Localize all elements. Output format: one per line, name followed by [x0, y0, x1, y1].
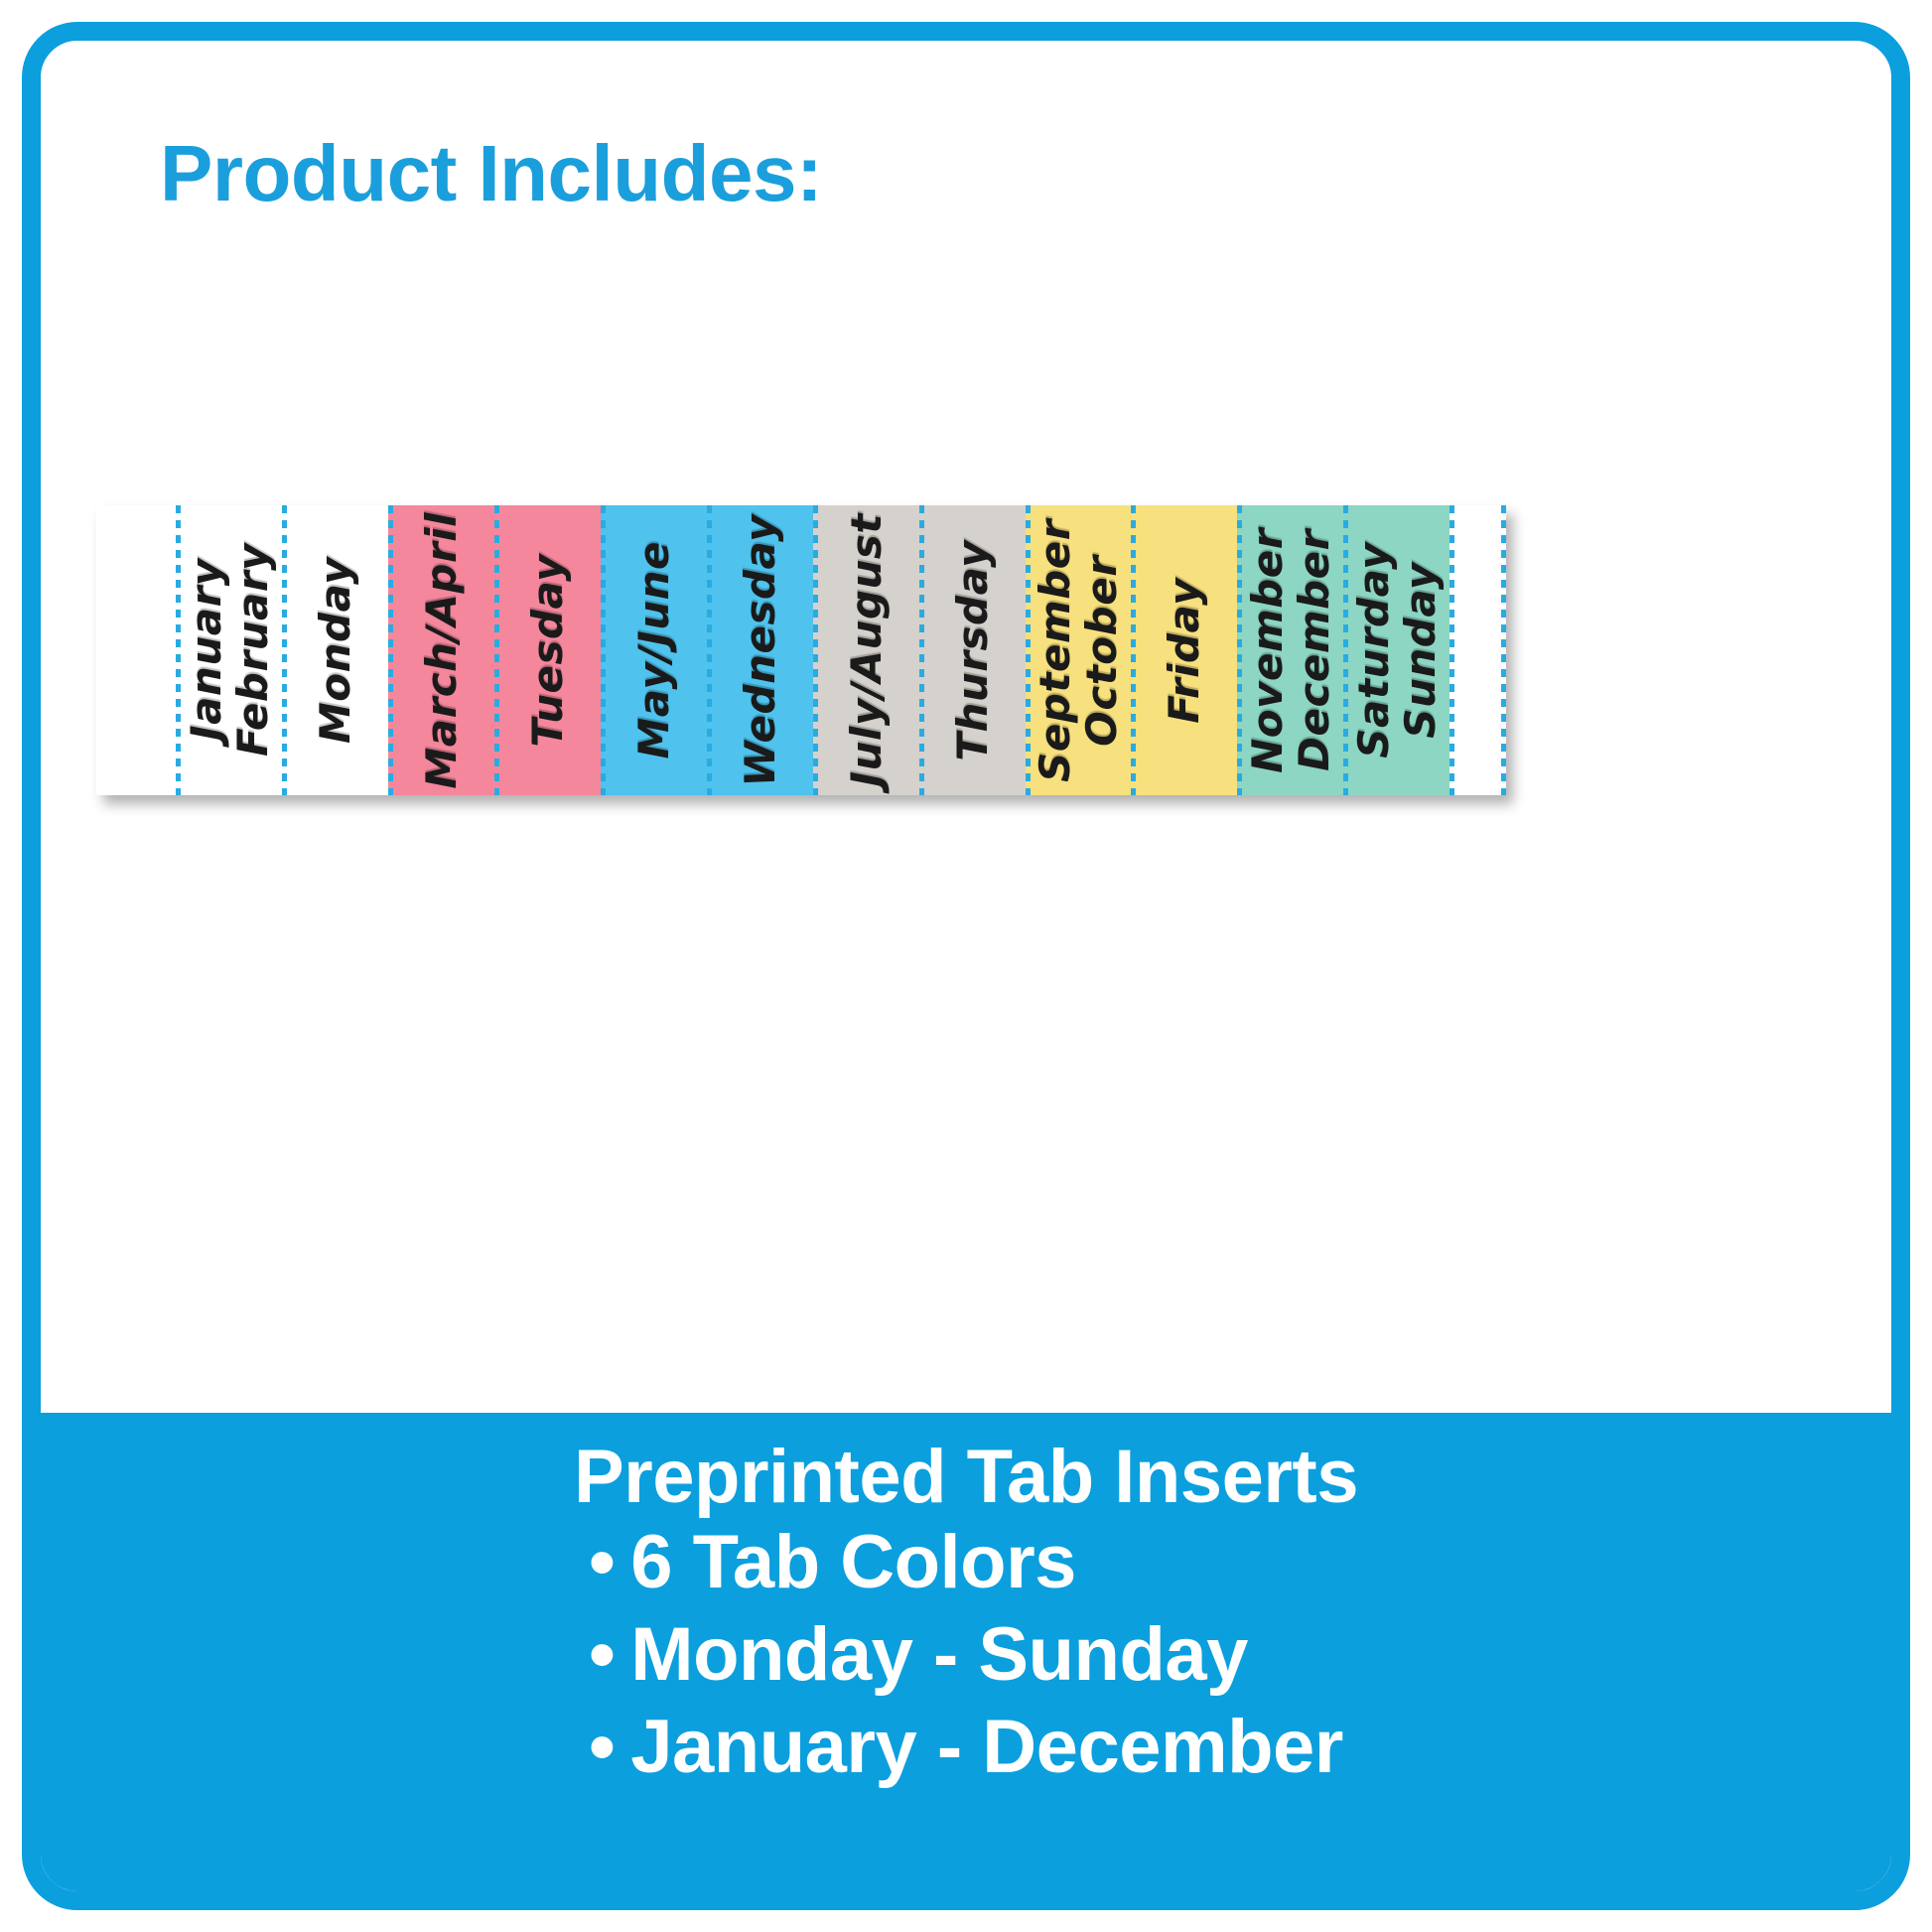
tab-segment-may-june[interactable]: May/June — [601, 505, 707, 795]
tab-segment-saturday-sunday[interactable]: SaturdaySunday — [1343, 505, 1449, 795]
tab-label-line: March/April — [418, 512, 465, 789]
tab-label-line: Sunday — [1397, 542, 1444, 759]
footer-bullet-text: 6 Tab Colors — [630, 1520, 1076, 1604]
tab-segment-margin-13[interactable] — [1449, 505, 1506, 795]
tab-segment-july-august[interactable]: July/August — [813, 505, 919, 795]
tab-label-line: October — [1078, 519, 1125, 782]
tab-label-line: Thursday — [949, 540, 996, 761]
tab-segment-label: March/April — [418, 512, 465, 789]
tab-segment-label: May/June — [630, 541, 677, 759]
tab-segment-monday[interactable]: Monday — [282, 505, 388, 795]
tab-segment-label: SaturdaySunday — [1350, 542, 1444, 759]
footer-bullet-text: Monday - Sunday — [630, 1612, 1248, 1697]
footer-bullet-text: January - December — [630, 1705, 1343, 1789]
tab-label-line: November — [1244, 528, 1291, 773]
tab-insert-strip: JanuaryFebruaryMondayMarch/AprilTuesdayM… — [96, 505, 1506, 795]
bullet-dot-icon: • — [589, 1520, 615, 1604]
tab-insert-strip-wrapper: JanuaryFebruaryMondayMarch/AprilTuesdayM… — [96, 505, 1506, 803]
footer-title: Preprinted Tab Inserts — [574, 1439, 1358, 1516]
tab-segment-thursday[interactable]: Thursday — [919, 505, 1026, 795]
bullet-dot-icon: • — [589, 1612, 615, 1697]
page-title: Product Includes: — [160, 128, 822, 219]
tab-label-line: May/June — [630, 541, 677, 759]
tab-label-line: Monday — [312, 557, 358, 744]
footer-bullet-item: •Monday - Sunday — [589, 1608, 1343, 1701]
tab-segment-label: Thursday — [949, 540, 996, 761]
tab-segment-label: Tuesday — [524, 554, 571, 748]
tab-segment-label: SeptemberOctober — [1032, 519, 1125, 782]
tab-segment-friday[interactable]: Friday — [1131, 505, 1237, 795]
tab-segment-label: July/August — [843, 513, 890, 787]
tab-label-line: September — [1032, 519, 1078, 782]
tab-segment-january-february[interactable]: JanuaryFebruary — [176, 505, 282, 795]
footer-banner: Preprinted Tab Inserts •6 Tab Colors•Mon… — [40, 1413, 1892, 1892]
tab-label-line: January — [183, 543, 229, 757]
bullet-dot-icon: • — [589, 1705, 615, 1789]
tab-segment-wednesday[interactable]: Wednesday — [707, 505, 813, 795]
tab-segment-label: Friday — [1161, 578, 1207, 724]
tab-label-line: Tuesday — [524, 554, 571, 748]
tab-label-line: December — [1291, 528, 1337, 773]
tab-label-line: Friday — [1161, 578, 1207, 724]
tab-label-line: February — [229, 543, 276, 757]
tab-segment-label: Wednesday — [737, 514, 783, 787]
product-card: Product Includes: JanuaryFebruaryMondayM… — [22, 22, 1910, 1910]
tab-segment-november-december[interactable]: NovemberDecember — [1237, 505, 1343, 795]
tab-segment-label: JanuaryFebruary — [183, 543, 276, 757]
tab-segment-march-april[interactable]: March/April — [388, 505, 494, 795]
tab-label-line: July/August — [843, 513, 890, 787]
tab-segment-label: NovemberDecember — [1244, 528, 1337, 773]
tab-label-line: Wednesday — [737, 514, 783, 787]
tab-segment-margin-0[interactable] — [96, 505, 176, 795]
footer-bullet-item: •January - December — [589, 1701, 1343, 1793]
footer-bullet-list: •6 Tab Colors•Monday - Sunday•January - … — [589, 1516, 1343, 1794]
tab-label-line: Saturday — [1350, 542, 1397, 759]
footer-bullet-item: •6 Tab Colors — [589, 1516, 1343, 1608]
tab-segment-september-october[interactable]: SeptemberOctober — [1026, 505, 1132, 795]
tab-segment-tuesday[interactable]: Tuesday — [494, 505, 601, 795]
tab-segment-label: Monday — [312, 557, 358, 744]
